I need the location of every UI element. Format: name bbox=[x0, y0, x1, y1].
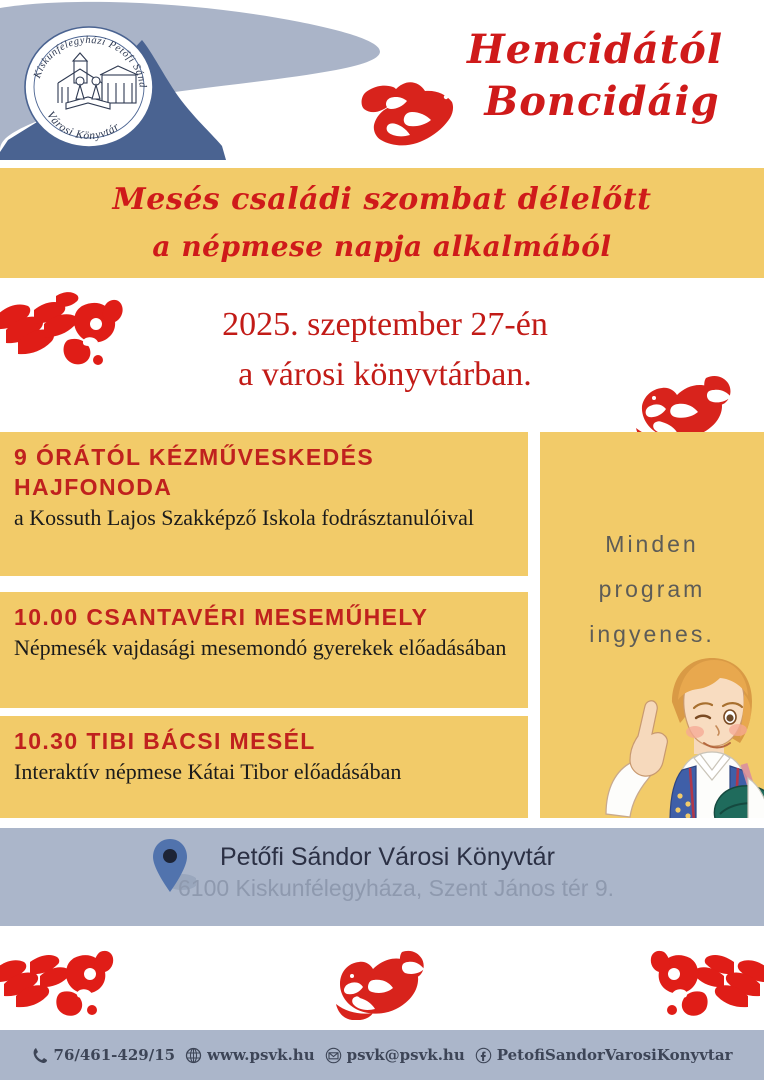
program-title: 10.00 CSANTAVÉRI MESEMŰHELY bbox=[14, 602, 514, 632]
subtitle-banner: Mesés családi szombat délelőtt a népmese… bbox=[0, 168, 764, 278]
library-seal-logo: Kiskunfélegyházi Petőfi Sándor Városi Kö… bbox=[18, 25, 160, 149]
title-line-2: Boncidáig bbox=[430, 76, 760, 128]
subtitle-line-2: a népmese napja alkalmából bbox=[0, 230, 764, 263]
page-title: Hencidától Boncidáig bbox=[430, 24, 760, 128]
footer-contact-bar: 76/461-429/15 www.psvk.hu psvk@psvk.hu bbox=[0, 1030, 764, 1080]
event-date: 2025. szeptember 27-én a városi könyvtár… bbox=[150, 300, 620, 400]
event-date-line-1: 2025. szeptember 27-én bbox=[150, 300, 620, 350]
footer-email[interactable]: psvk@psvk.hu bbox=[325, 1046, 465, 1064]
envelope-icon bbox=[325, 1047, 342, 1064]
footer-phone-text: 76/461-429/15 bbox=[54, 1046, 176, 1064]
program-title: 9 ÓRÁTÓL KÉZMŰVESKEDÉS HAJFONODA bbox=[14, 442, 514, 502]
globe-icon bbox=[185, 1047, 202, 1064]
folk-rooster-motif-bottom-right-icon bbox=[628, 940, 764, 1018]
footer-website-text: www.psvk.hu bbox=[207, 1046, 315, 1064]
footer-email-text: psvk@psvk.hu bbox=[347, 1046, 465, 1064]
subtitle-line-1: Mesés családi szombat délelőtt bbox=[0, 182, 764, 217]
poster: Kiskunfélegyházi Petőfi Sándor Városi Kö… bbox=[0, 0, 764, 1080]
event-date-line-2: a városi könyvtárban. bbox=[150, 350, 620, 400]
folk-rooster-motif-left-icon bbox=[0, 280, 132, 372]
poster-header: Kiskunfélegyházi Petőfi Sándor Városi Kö… bbox=[0, 0, 764, 168]
program-block: 10.30 TIBI BÁCSI MESÉL Interaktív népmes… bbox=[0, 716, 528, 818]
phone-icon bbox=[32, 1047, 49, 1064]
program-description: a Kossuth Lajos Szakképző Iskola fodrász… bbox=[14, 504, 514, 531]
program-description: Népmesék vajdasági mesemondó gyerekek el… bbox=[14, 634, 514, 661]
title-line-1: Hencidától bbox=[467, 26, 723, 73]
folk-bird-motif-bottom-center-icon bbox=[330, 948, 438, 1020]
program-description: Interaktív népmese Kátai Tibor előadásáb… bbox=[14, 758, 514, 785]
footer-phone[interactable]: 76/461-429/15 bbox=[32, 1046, 176, 1064]
venue-street: 6100 Kiskunfélegyháza, Szent János tér 9… bbox=[178, 875, 614, 902]
program-title: 10.30 TIBI BÁCSI MESÉL bbox=[14, 726, 514, 756]
folk-costume-boy-illustration bbox=[598, 644, 764, 818]
program-block: 10.00 CSANTAVÉRI MESEMŰHELY Népmesék vaj… bbox=[0, 592, 528, 708]
program-block: 9 ÓRÁTÓL KÉZMŰVESKEDÉS HAJFONODA a Kossu… bbox=[0, 432, 528, 576]
footer-facebook-text: PetofiSandorVarosiKonyvtar bbox=[497, 1046, 733, 1064]
venue-name: Petőfi Sándor Városi Könyvtár bbox=[220, 843, 555, 872]
free-line-1: Minden bbox=[540, 522, 764, 567]
free-admission-text: Minden program ingyenes. bbox=[540, 522, 764, 657]
facebook-icon bbox=[475, 1047, 492, 1064]
folk-rooster-motif-bottom-left-icon bbox=[0, 940, 128, 1018]
footer-facebook[interactable]: PetofiSandorVarosiKonyvtar bbox=[475, 1046, 733, 1064]
free-admission-box: Minden program ingyenes. bbox=[540, 432, 764, 818]
footer-website[interactable]: www.psvk.hu bbox=[185, 1046, 315, 1064]
free-line-2: program bbox=[540, 567, 764, 612]
